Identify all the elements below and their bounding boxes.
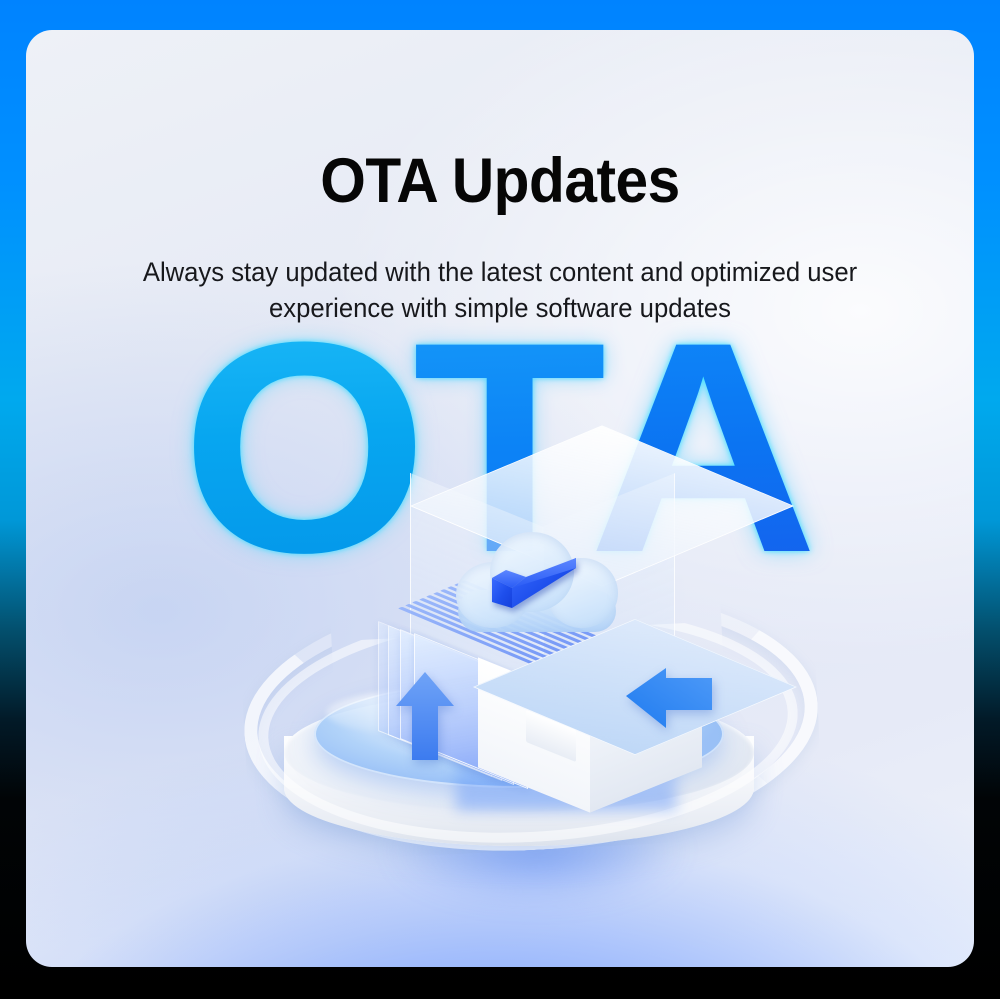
page-subtitle: Always stay updated with the latest cont… (135, 255, 865, 327)
fin-line (461, 580, 615, 645)
ota-updates-banner: OTA Updates Always stay updated with the… (0, 0, 1000, 999)
fin-line (433, 592, 587, 657)
ota-watermark: O T A (26, 330, 974, 590)
plate-layer (400, 629, 514, 785)
white-box-flap (526, 710, 576, 762)
box-reflection (456, 730, 676, 810)
glass-cube-front-edge (540, 544, 544, 738)
fin-line (412, 601, 566, 666)
fin-line (426, 595, 580, 660)
fin-line (405, 604, 559, 669)
cloud-puff-center (490, 532, 574, 612)
arrow-up-icon (394, 670, 456, 762)
checkmark-icon (488, 558, 580, 610)
cloud-puff-left (456, 562, 530, 628)
striped-fins (393, 579, 667, 694)
podium-cylinder-side (284, 736, 754, 846)
glass-cube-left-face (410, 473, 544, 727)
watermark-letter-o: O (181, 330, 428, 564)
page-title: OTA Updates (59, 148, 941, 215)
podium-glass-sheen (326, 686, 626, 740)
stacked-plates (378, 622, 548, 772)
glass-cube-top-face (410, 425, 794, 586)
glass-ring-arc-inner (252, 594, 804, 856)
fin-line (440, 589, 594, 654)
fin-line (454, 583, 608, 648)
plate-layer (378, 621, 492, 777)
cloud-base (458, 590, 616, 632)
arrow-right-icon (622, 666, 714, 736)
plate-layer (414, 633, 528, 789)
cloud-puff-right (546, 558, 618, 628)
glass-cube (404, 448, 674, 718)
white-box-left-face (478, 657, 590, 812)
glass-ring-arc-outer (238, 573, 825, 865)
watermark-letter-a: A (588, 330, 818, 564)
plate-layer (388, 625, 502, 781)
watermark-letter-t: T (412, 330, 606, 564)
glass-cube-right-face (542, 473, 675, 727)
fin-line (447, 586, 601, 651)
podium-glass-disc (314, 680, 724, 788)
white-box-right-face (590, 657, 702, 812)
floor-glow (326, 790, 746, 940)
podium-cylinder-top (284, 692, 754, 812)
fin-line (419, 598, 573, 663)
white-box-open-top (473, 619, 797, 755)
banner-card: OTA Updates Always stay updated with the… (26, 30, 974, 967)
fin-line (398, 607, 552, 672)
cloud-icon (450, 528, 626, 636)
